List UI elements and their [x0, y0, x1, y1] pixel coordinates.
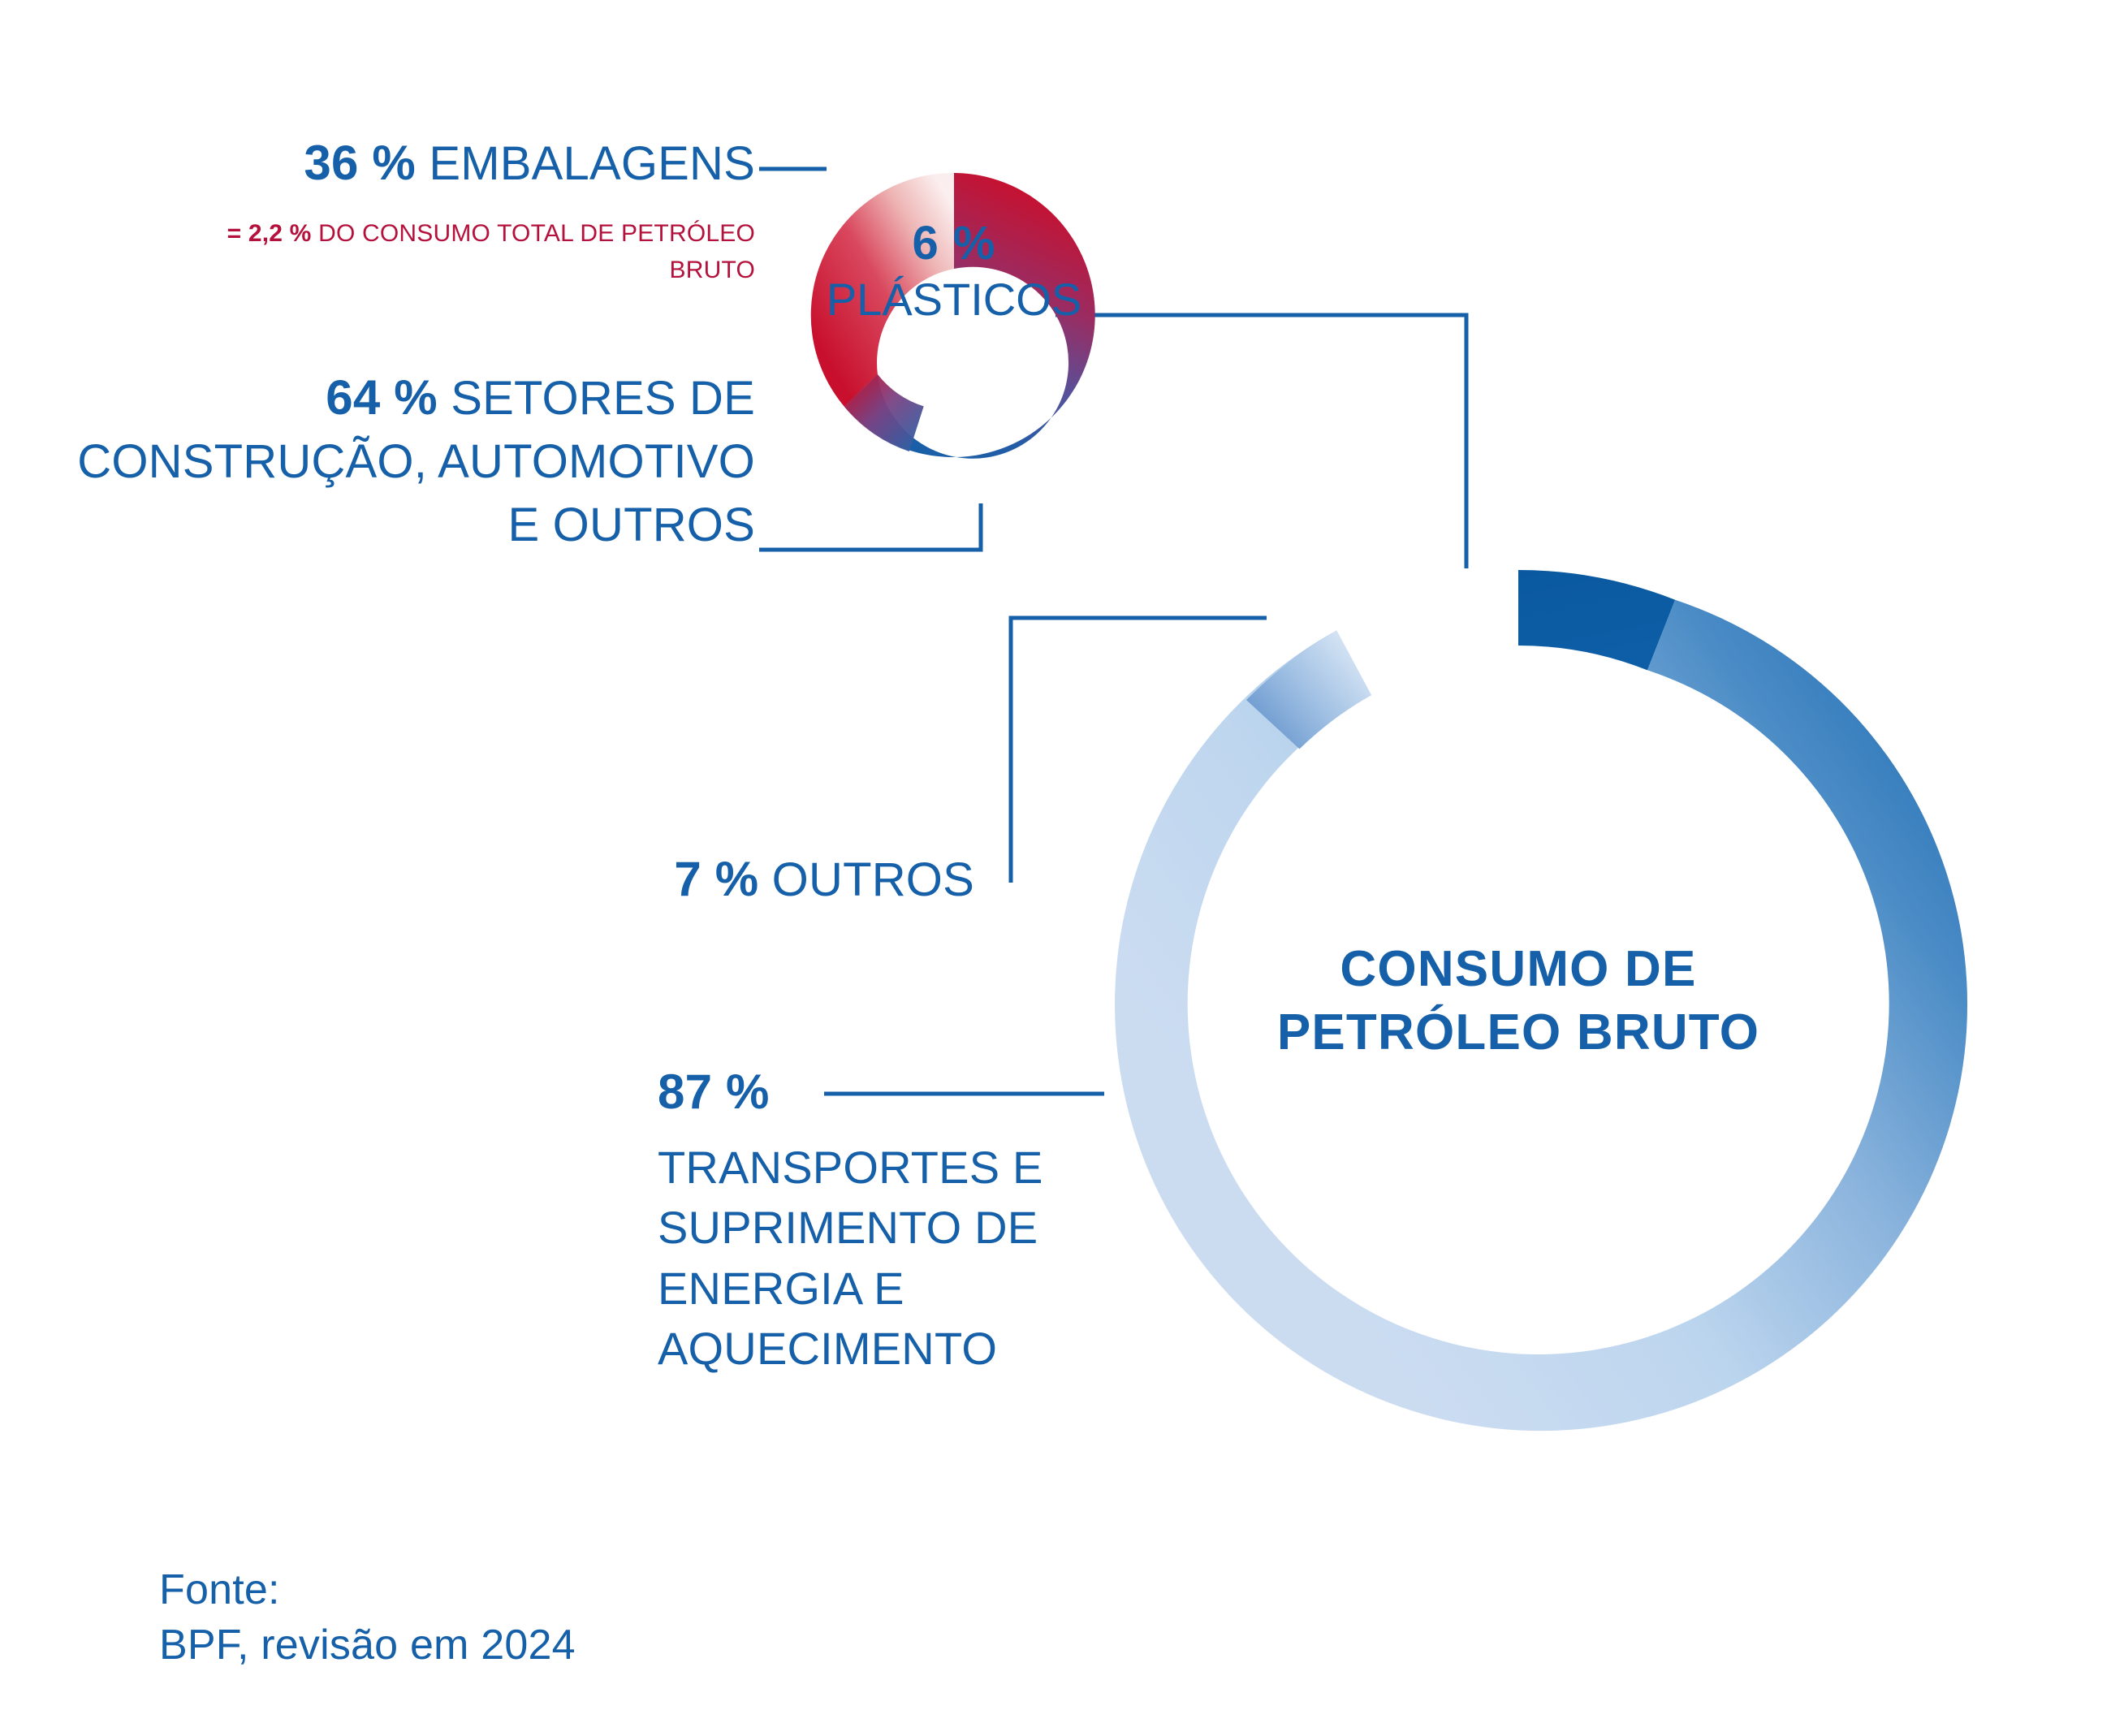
source-note: Fonte: BPF, revisão em 2024	[159, 1563, 576, 1673]
label-transportes: 87 % TRANSPORTES E SUPRIMENTO DE ENERGIA…	[658, 1060, 1112, 1380]
large-donut-center-line1: CONSUMO DE	[1194, 938, 1843, 1001]
label-embalagens-value: 36 %	[304, 136, 416, 190]
label-subtotal-petroleo: = 2,2 % DO CONSUMO TOTAL DE PETRÓLEO BRU…	[146, 215, 755, 288]
small-donut-center-label: 6 % PLÁSTICOS	[763, 219, 1145, 326]
large-donut-center-line2: PETRÓLEO BRUTO	[1194, 1001, 1843, 1064]
small-donut-center-text: PLÁSTICOS	[763, 274, 1145, 326]
source-line-2: BPF, revisão em 2024	[159, 1618, 576, 1673]
label-transportes-value: 87 %	[658, 1060, 1112, 1125]
label-transportes-text: TRANSPORTES E SUPRIMENTO DE ENERGIA E AQ…	[658, 1142, 1043, 1374]
label-outros-value: 7 %	[674, 852, 758, 906]
label-setores-value: 64 %	[326, 370, 438, 425]
leader-setores	[759, 503, 981, 550]
label-outros: 7 % OUTROS	[438, 851, 974, 909]
label-outros-text: OUTROS	[772, 853, 974, 906]
segment-plasticos	[1518, 570, 1675, 670]
source-line-1: Fonte:	[159, 1563, 576, 1618]
infographic-canvas: 36 % EMBALAGENS = 2,2 % DO CONSUMO TOTAL…	[0, 0, 2111, 1736]
large-donut-center-label: CONSUMO DE PETRÓLEO BRUTO	[1194, 938, 1843, 1064]
small-donut-center-value: 6 %	[763, 219, 1145, 269]
label-subtotal-value: = 2,2 %	[227, 220, 312, 247]
label-embalagens-text: EMBALAGENS	[429, 137, 755, 190]
label-subtotal-text: DO CONSUMO TOTAL DE PETRÓLEO BRUTO	[318, 220, 755, 283]
label-setores: 64 % SETORES DE CONSTRUÇÃO, AUTOMOTIVO E…	[49, 365, 755, 557]
label-embalagens: 36 % EMBALAGENS	[0, 135, 755, 192]
leader-plasticos-link	[1055, 315, 1466, 568]
